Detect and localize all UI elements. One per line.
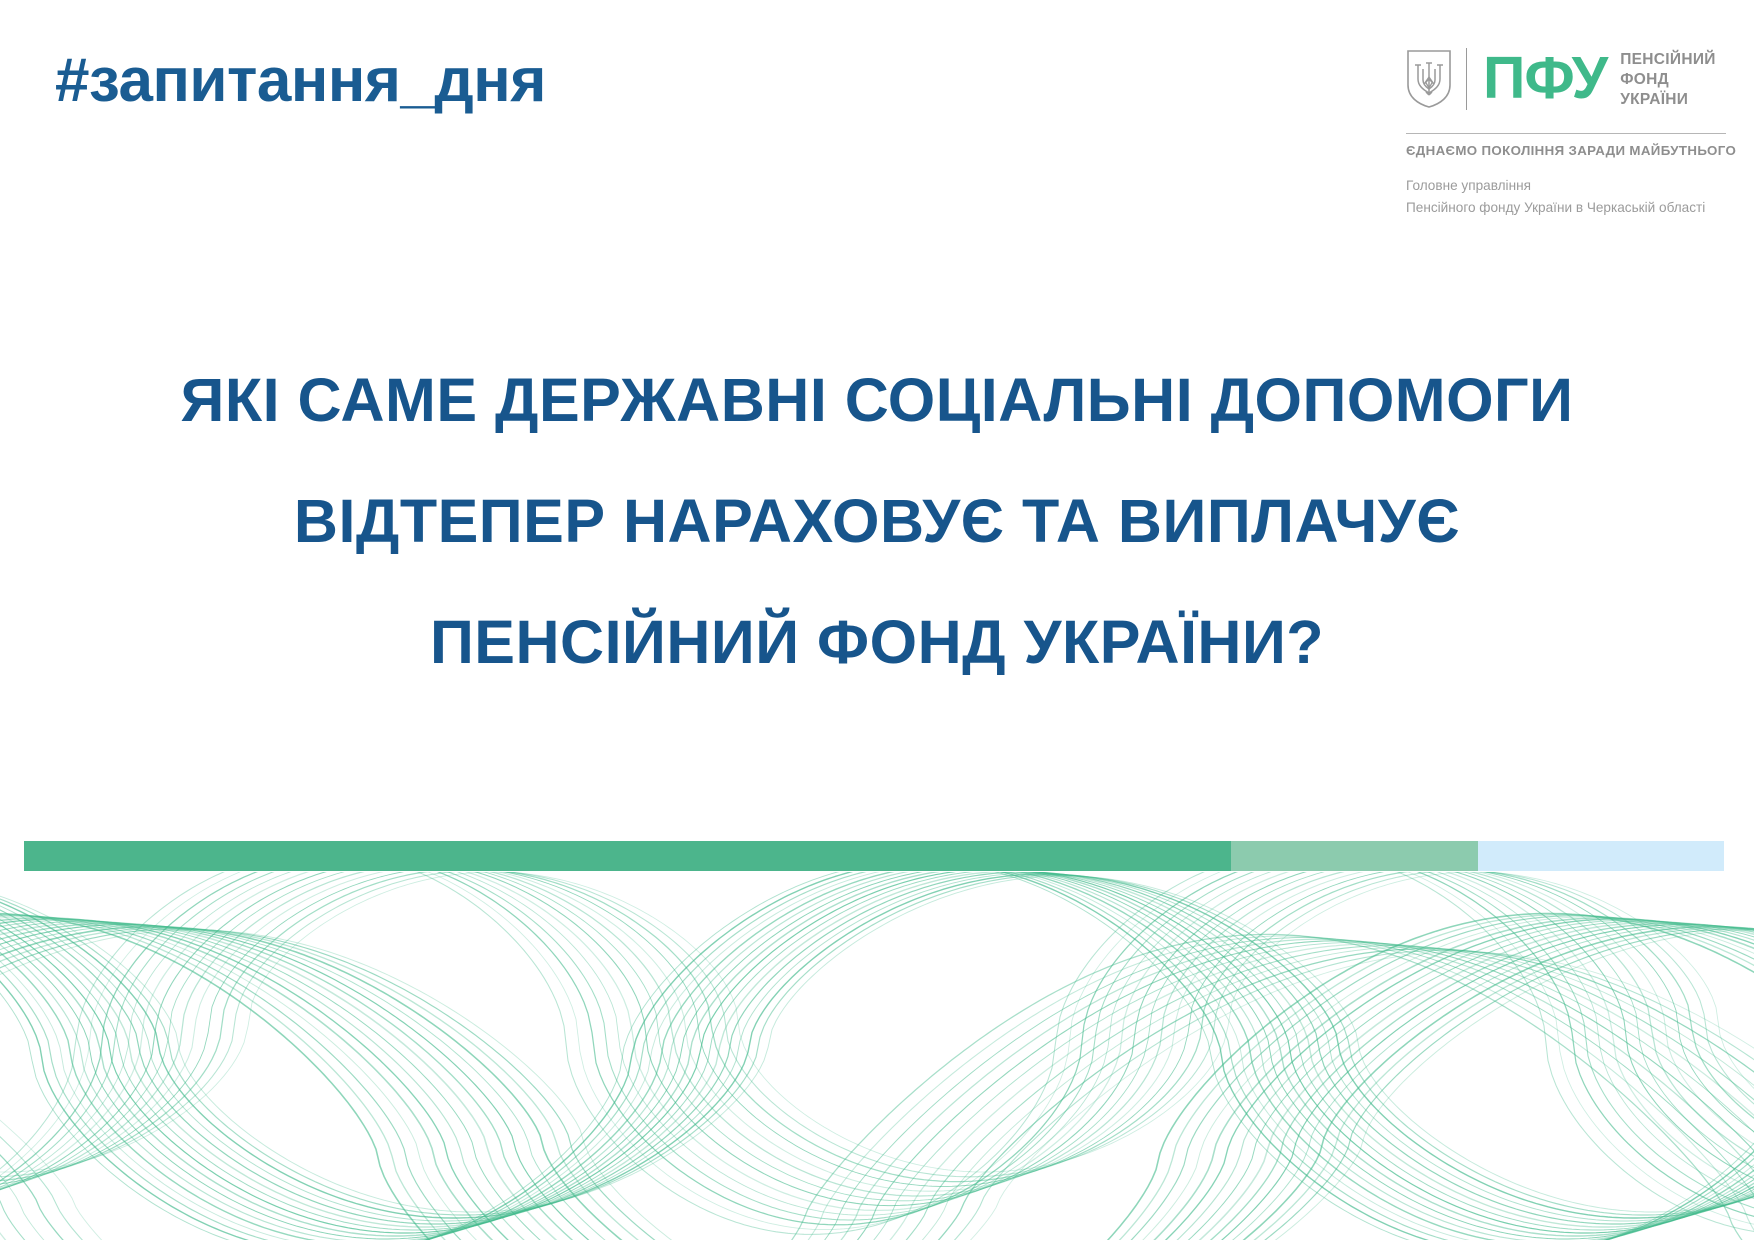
department-line-1: Головне управління bbox=[1406, 175, 1726, 197]
logo-slogan: ЄДНАЄМО ПОКОЛІННЯ ЗАРАДИ МАЙБУТНЬОГО bbox=[1406, 143, 1726, 158]
logo-divider bbox=[1466, 48, 1467, 110]
pfu-logo-block: ПФУ ПЕНСІЙНИЙ ФОНД УКРАЇНИ ЄДНАЄМО ПОКОЛ… bbox=[1406, 38, 1726, 219]
bar-segment-green-dark bbox=[24, 841, 1231, 871]
bar-segment-green-light bbox=[1231, 841, 1478, 871]
flowing-wave-ribbon-graphic bbox=[0, 872, 1754, 1240]
department-line-2: Пенсійного фонду України в Черкаській об… bbox=[1406, 197, 1726, 219]
pfu-wordmark: ПФУ bbox=[1483, 53, 1607, 104]
logo-lockup: ПФУ ПЕНСІЙНИЙ ФОНД УКРАЇНИ bbox=[1406, 38, 1726, 120]
hashtag-heading: #запитання_дня bbox=[55, 48, 546, 113]
question-line-3: ПЕНСІЙНИЙ ФОНД УКРАЇНИ? bbox=[0, 582, 1754, 703]
pfu-word-2: ФОНД bbox=[1620, 70, 1716, 90]
slide-canvas: #запитання_дня ПФУ bbox=[0, 0, 1754, 1240]
question-heading: ЯКІ САМЕ ДЕРЖАВНІ СОЦІАЛЬНІ ДОПОМОГИ ВІД… bbox=[0, 340, 1754, 702]
question-line-1: ЯКІ САМЕ ДЕРЖАВНІ СОЦІАЛЬНІ ДОПОМОГИ bbox=[0, 340, 1754, 461]
ukraine-trident-emblem-icon bbox=[1406, 49, 1452, 109]
bar-segment-blue-light bbox=[1478, 841, 1725, 871]
pfu-word-1: ПЕНСІЙНИЙ bbox=[1620, 50, 1716, 70]
pfu-full-name: ПЕНСІЙНИЙ ФОНД УКРАЇНИ bbox=[1620, 48, 1716, 109]
pfu-word-3: УКРАЇНИ bbox=[1620, 90, 1716, 110]
tricolor-divider-bar bbox=[24, 841, 1724, 871]
question-line-2: ВІДТЕПЕР НАРАХОВУЄ ТА ВИПЛАЧУЄ bbox=[0, 461, 1754, 582]
logo-horizontal-rule bbox=[1406, 133, 1726, 134]
department-caption: Головне управління Пенсійного фонду Укра… bbox=[1406, 175, 1726, 219]
